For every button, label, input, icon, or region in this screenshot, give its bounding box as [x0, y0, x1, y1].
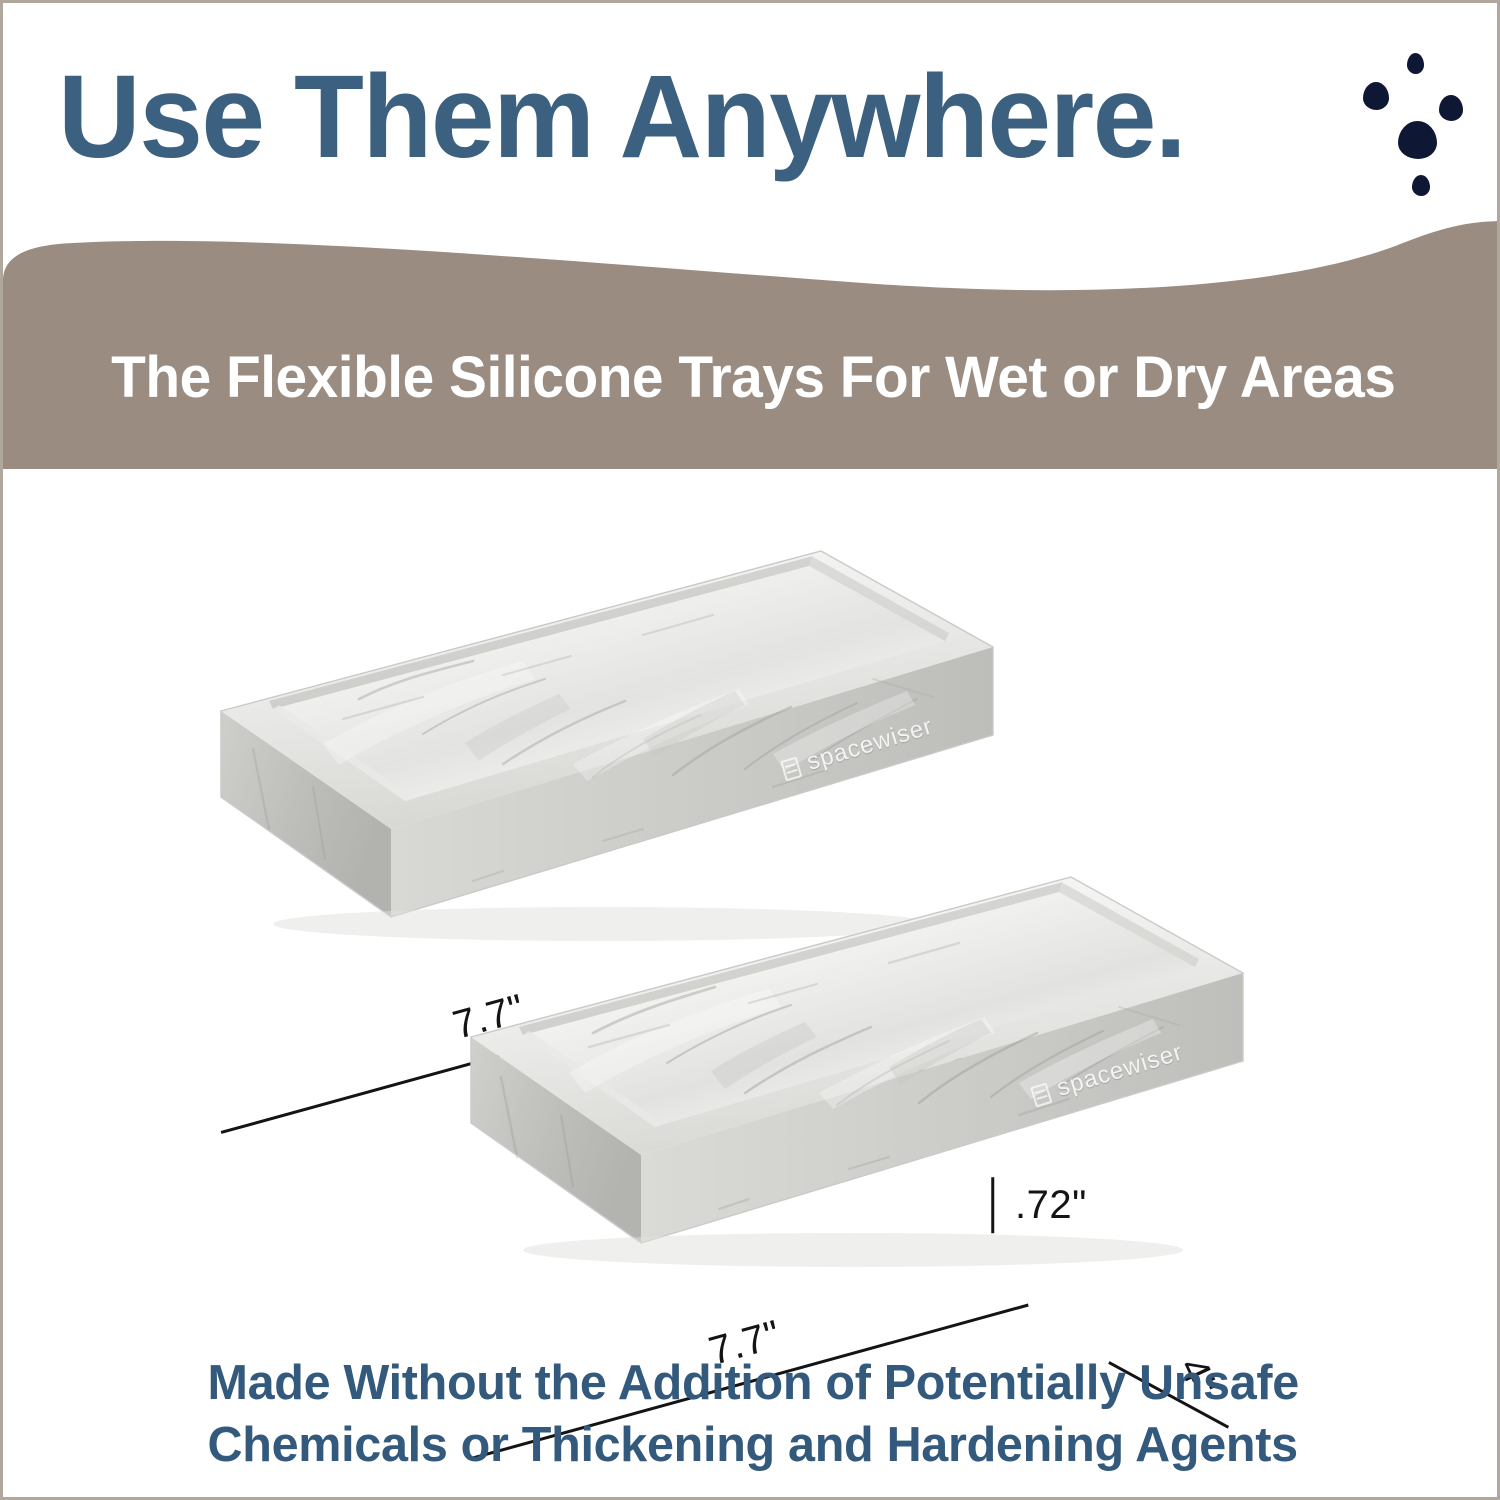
- subtitle-banner: The Flexible Silicone Trays For Wet or D…: [3, 221, 1500, 469]
- footer-section: Made Without the Addition of Potentially…: [3, 1355, 1500, 1500]
- header-section: Use Them Anywhere.: [3, 3, 1500, 243]
- decorative-dot-5: [1412, 175, 1430, 196]
- banner-subtitle: The Flexible Silicone Trays For Wet or D…: [111, 344, 1395, 411]
- infographic-page: Use Them Anywhere. The Flexible Silicone…: [0, 0, 1500, 1500]
- decorative-dots-cluster: [1358, 23, 1500, 183]
- tray-bottom-illustration: [423, 855, 1243, 1285]
- footer-line-2: Chemicals or Thickening and Hardening Ag…: [208, 1417, 1298, 1475]
- page-title: Use Them Anywhere.: [58, 58, 1185, 176]
- decorative-dot-1: [1407, 53, 1424, 74]
- product-tray-bottom: spacewiser: [423, 855, 1243, 1285]
- product-stage: spacewiser 7.7" 4" .72": [3, 469, 1500, 1349]
- banner-text-wrap: The Flexible Silicone Trays For Wet or D…: [3, 221, 1500, 469]
- decorative-dot-4: [1398, 121, 1437, 159]
- footer-line-1: Made Without the Addition of Potentially…: [207, 1355, 1298, 1413]
- decorative-dot-3: [1439, 95, 1463, 121]
- decorative-dot-2: [1363, 82, 1389, 110]
